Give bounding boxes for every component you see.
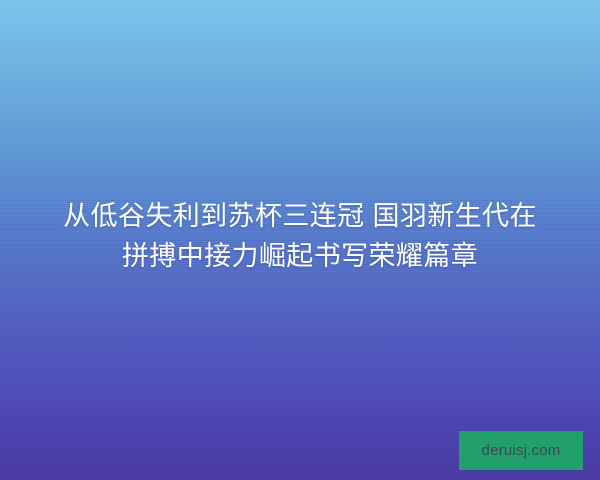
page-title: 从低谷失利到苏杯三连冠 国羽新生代在 拼搏中接力崛起书写荣耀篇章 (0, 196, 600, 276)
title-line-2: 拼搏中接力崛起书写荣耀篇章 (26, 236, 574, 276)
title-line-1: 从低谷失利到苏杯三连冠 国羽新生代在 (26, 196, 574, 236)
article-cover-image: 从低谷失利到苏杯三连冠 国羽新生代在 拼搏中接力崛起书写荣耀篇章 deruisj… (0, 0, 600, 480)
watermark-label: deruisj.com (482, 443, 561, 458)
watermark-badge[interactable]: deruisj.com (459, 431, 583, 470)
